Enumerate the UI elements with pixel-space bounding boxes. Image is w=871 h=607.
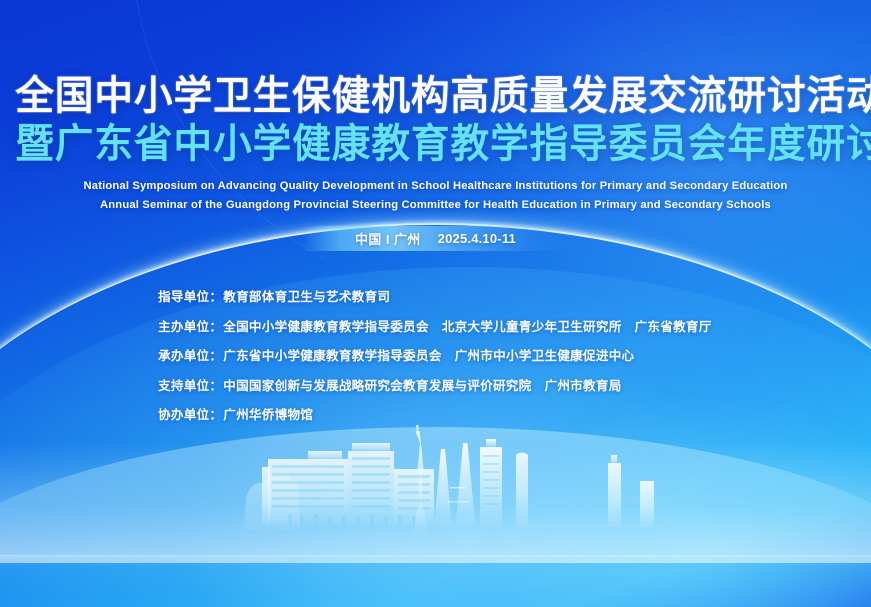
organizer-label: 承办单位： xyxy=(158,349,222,363)
organizer-label: 支持单位： xyxy=(158,379,222,393)
event-date: 2025.4.10-11 xyxy=(438,231,516,246)
title-block: 全国中小学卫生保健机构高质量发展交流研讨活动 暨广东省中小学健康教育教学指导委员… xyxy=(0,76,871,215)
organizer-item: 全国中小学健康教育教学指导委员会 xyxy=(223,320,429,334)
organizer-label: 指导单位： xyxy=(158,290,222,304)
poster-title-line-2: 暨广东省中小学健康教育教学指导委员会年度研讨活动 xyxy=(15,124,856,165)
event-badge: 中国 I 广州 2025.4.10-11 xyxy=(302,226,569,251)
organizer-row: 指导单位：教育部体育卫生与艺术教育司 xyxy=(158,286,712,305)
organizer-item: 中国国家创新与发展战略研究会教育发展与评价研究院 xyxy=(223,379,531,393)
event-location: 中国 I 广州 xyxy=(355,229,421,248)
organizer-row: 主办单位：全国中小学健康教育教学指导委员会北京大学儿童青少年卫生研究所广东省教育… xyxy=(158,316,712,335)
conference-poster: 全国中小学卫生保健机构高质量发展交流研讨活动 暨广东省中小学健康教育教学指导委员… xyxy=(0,0,871,607)
organizer-item: 北京大学儿童青少年卫生研究所 xyxy=(442,320,622,334)
organizer-list: 指导单位：教育部体育卫生与艺术教育司 主办单位：全国中小学健康教育教学指导委员会… xyxy=(158,286,712,423)
organizer-label: 主办单位： xyxy=(158,320,222,334)
organizer-item: 广州市中小学卫生健康促进中心 xyxy=(455,349,635,363)
event-badge-container: 中国 I 广州 2025.4.10-11 xyxy=(0,226,871,251)
organizer-item: 广东省中小学健康教育教学指导委员会 xyxy=(223,349,441,363)
organizer-item: 广州华侨博物馆 xyxy=(223,408,313,422)
organizer-item: 广东省教育厅 xyxy=(635,320,712,334)
organizer-row: 协办单位：广州华侨博物馆 xyxy=(158,404,712,423)
organizer-label: 协办单位： xyxy=(158,408,222,422)
organizer-row: 支持单位：中国国家创新与发展战略研究会教育发展与评价研究院广州市教育局 xyxy=(158,375,712,394)
organizer-item: 教育部体育卫生与艺术教育司 xyxy=(223,290,390,304)
poster-subtitle-en-line-2: Annual Seminar of the Guangdong Provinci… xyxy=(0,197,871,215)
poster-title-line-1: 全国中小学卫生保健机构高质量发展交流研讨活动 xyxy=(15,76,856,117)
poster-subtitle-en-line-1: National Symposium on Advancing Quality … xyxy=(0,178,871,196)
organizer-item: 广州市教育局 xyxy=(544,379,621,393)
organizer-row: 承办单位：广东省中小学健康教育教学指导委员会广州市中小学卫生健康促进中心 xyxy=(158,345,712,364)
